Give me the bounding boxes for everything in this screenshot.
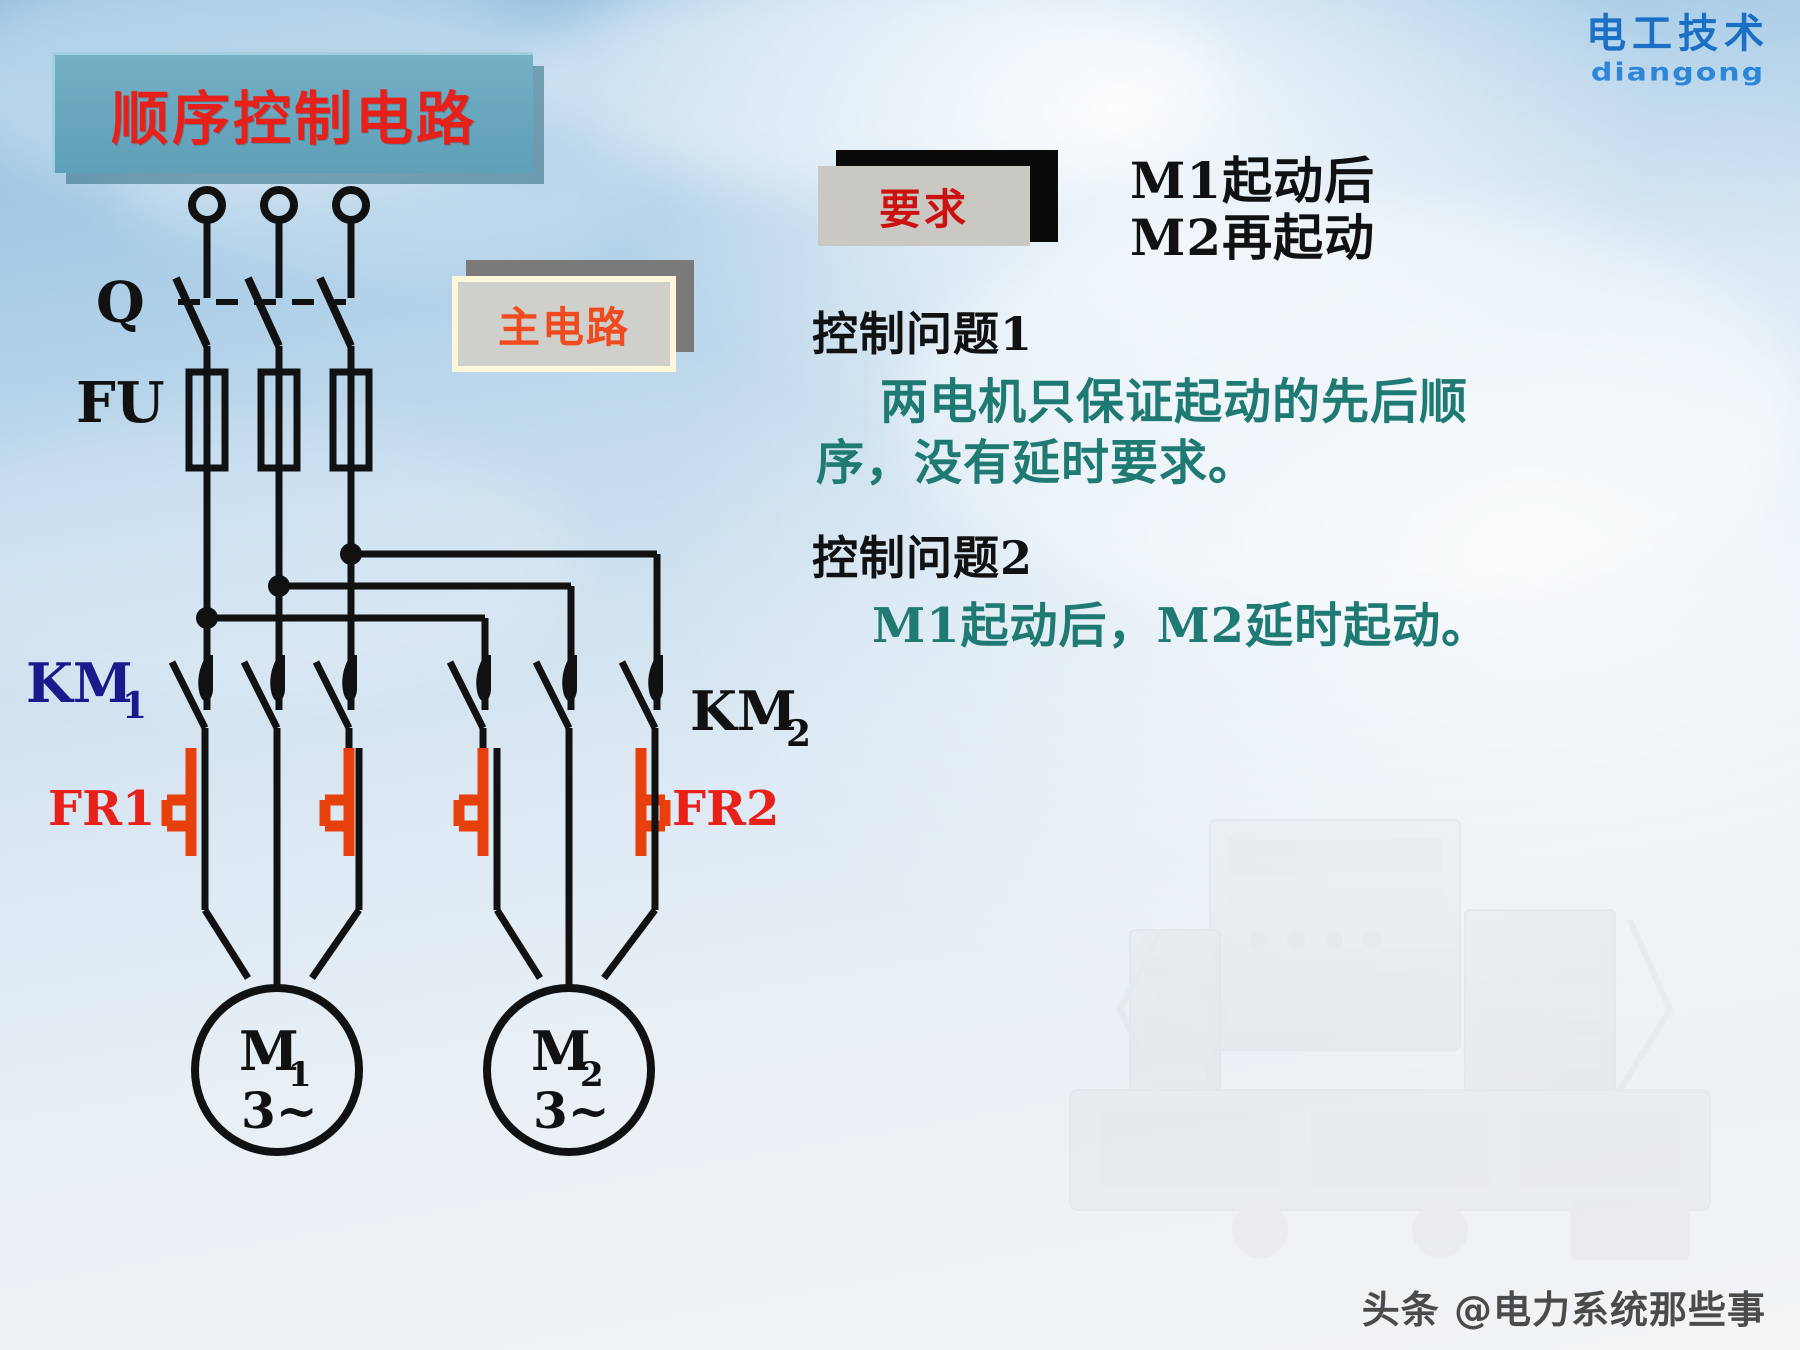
requirement-lines: M1起动后 M2再起动 — [1130, 152, 1375, 266]
motor-M2-leads — [497, 910, 655, 990]
contactor-KM1-label-sub: 1 — [122, 685, 147, 727]
contactor-KM1-label: KM — [26, 651, 133, 715]
contactor-photo-watermark — [1010, 760, 1770, 1320]
problem-2-body: M1起动后，M2延时起动。 — [816, 596, 1496, 657]
requirement-line-1: M1起动后 — [1130, 152, 1375, 209]
supply-terminal-L2 — [264, 190, 294, 220]
logo-chinese-text: 电工技术 — [1586, 14, 1770, 54]
fuse-FU-label: FU — [76, 370, 165, 436]
brand-logo: 电工技术 diangong — [1586, 14, 1770, 88]
thermal-relay-FR2-label: FR2 — [672, 781, 779, 837]
thermal-relay-FR1 — [167, 748, 349, 856]
channel-watermark: 头条 @电力系统那些事 — [1362, 1279, 1766, 1334]
motor-M1-leads — [205, 910, 359, 990]
logo-pinyin-text: diangong — [1586, 61, 1770, 86]
contactor-KM2-contacts — [450, 655, 663, 728]
slide-canvas: 电工技术 diangong 顺序控制电路 主电路 要求 M1起动后 M2再起动 … — [0, 0, 1800, 1350]
thermal-relay-FR2 — [459, 748, 665, 856]
motor-M1-phase-label: 3~ — [241, 1081, 318, 1140]
motor-M2-phase-label: 3~ — [533, 1081, 610, 1140]
thermal-relay-FR1-label: FR1 — [48, 781, 155, 837]
contactor-KM1-contacts — [172, 655, 357, 728]
requirement-line-2: M2再起动 — [1130, 209, 1375, 266]
supply-terminal-L1 — [192, 190, 222, 220]
switch-Q-label: Q — [96, 270, 145, 336]
requirement-label-text: 要求 — [879, 176, 969, 237]
main-circuit-diagram: Q FU KM 1 KM 2 FR1 FR2 M 1 3~ M 2 3~ — [0, 150, 860, 1250]
problem-1-body: 两电机只保证起动的先后顺序，没有延时要求。 — [816, 372, 1496, 495]
contactor-KM2-label-sub: 2 — [786, 713, 811, 755]
contactor-KM2-label: KM — [690, 679, 797, 743]
page-title: 顺序控制电路 — [111, 72, 477, 156]
supply-terminal-L3 — [336, 190, 366, 220]
